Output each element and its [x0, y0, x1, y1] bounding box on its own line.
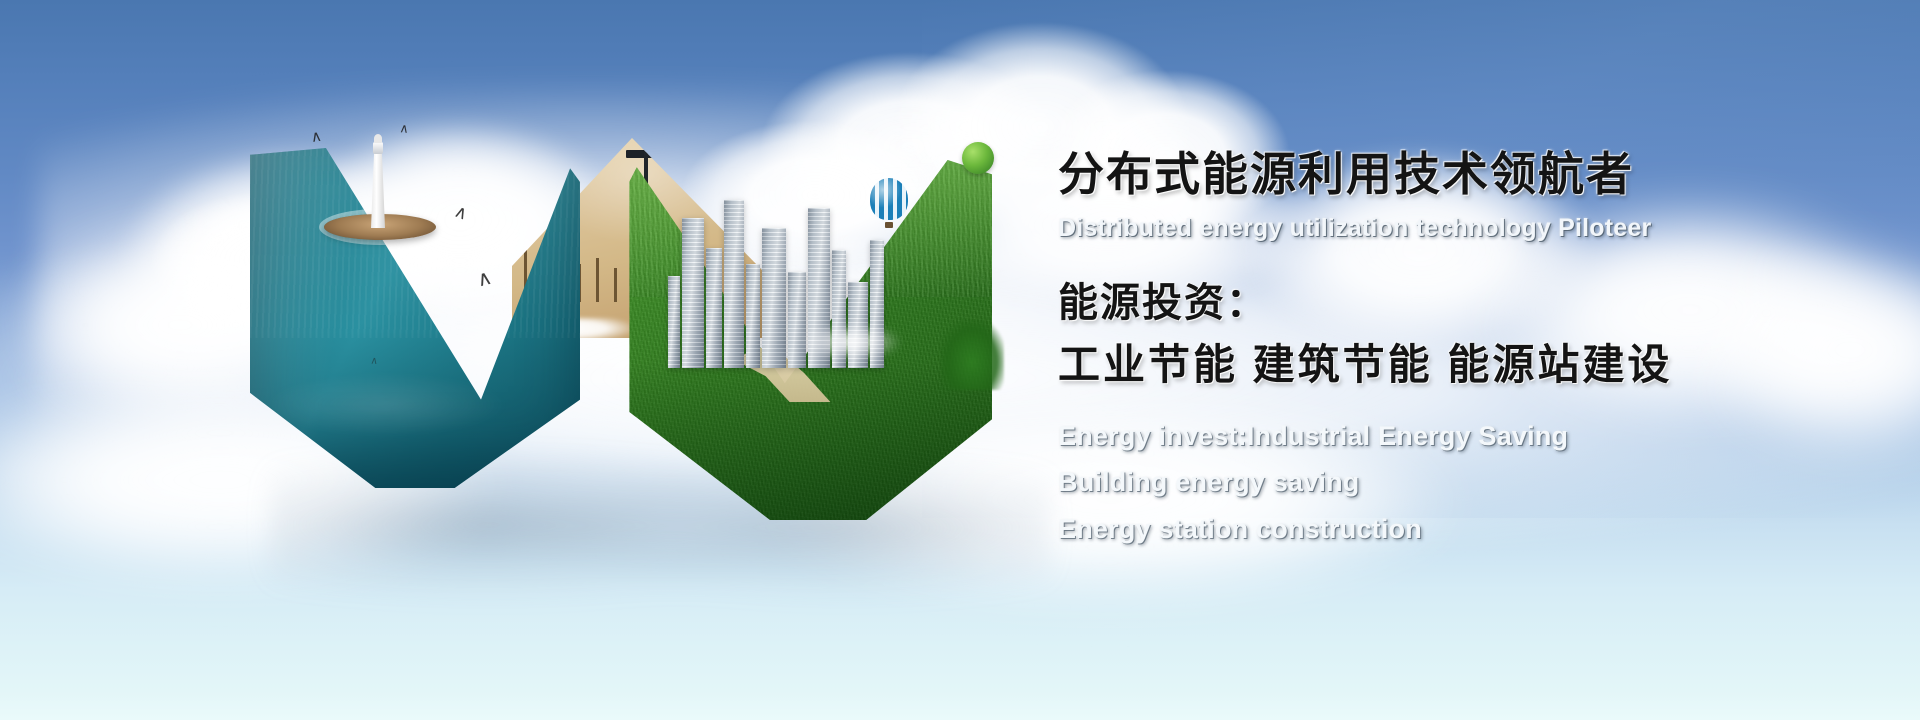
shrub [940, 320, 1004, 390]
tree-icon [962, 142, 994, 174]
headline-chinese: 分布式能源利用技术领航者 [1058, 150, 1848, 199]
services-english-list: Energy invest:Industrial Energy Saving B… [1058, 413, 1848, 552]
w-landscape-artwork: ∧ ∧ ∧ ∧ ∧ [250, 120, 1060, 580]
service-line: Energy station construction [1058, 506, 1848, 552]
service-line: Building energy saving [1058, 459, 1848, 505]
seagull-icon: ∧ [399, 122, 410, 136]
water-ripples [270, 352, 560, 440]
seagull-icon: ∧ [475, 267, 494, 290]
banner-copy: 分布式能源利用技术领航者 Distributed energy utilizat… [1058, 150, 1848, 552]
city-mist [790, 320, 910, 364]
headline-english: Distributed energy utilization technolog… [1058, 215, 1848, 243]
service-line: Energy invest:Industrial Energy Saving [1058, 413, 1848, 459]
services-chinese: 工业节能 建筑节能 能源站建设 [1058, 340, 1848, 390]
ocean-water-block [250, 148, 580, 488]
seagull-icon: ∧ [310, 128, 323, 145]
lighthouse-icon [368, 134, 388, 228]
banner-stage: ∧ ∧ ∧ ∧ ∧ 分布式能源利用技术领航者 Distributed energ… [0, 0, 1920, 720]
section-label-chinese: 能源投资： [1058, 278, 1848, 328]
seagull-icon: ∧ [452, 202, 471, 223]
hot-air-balloon-icon [870, 178, 908, 230]
seagull-icon: ∧ [370, 355, 378, 366]
